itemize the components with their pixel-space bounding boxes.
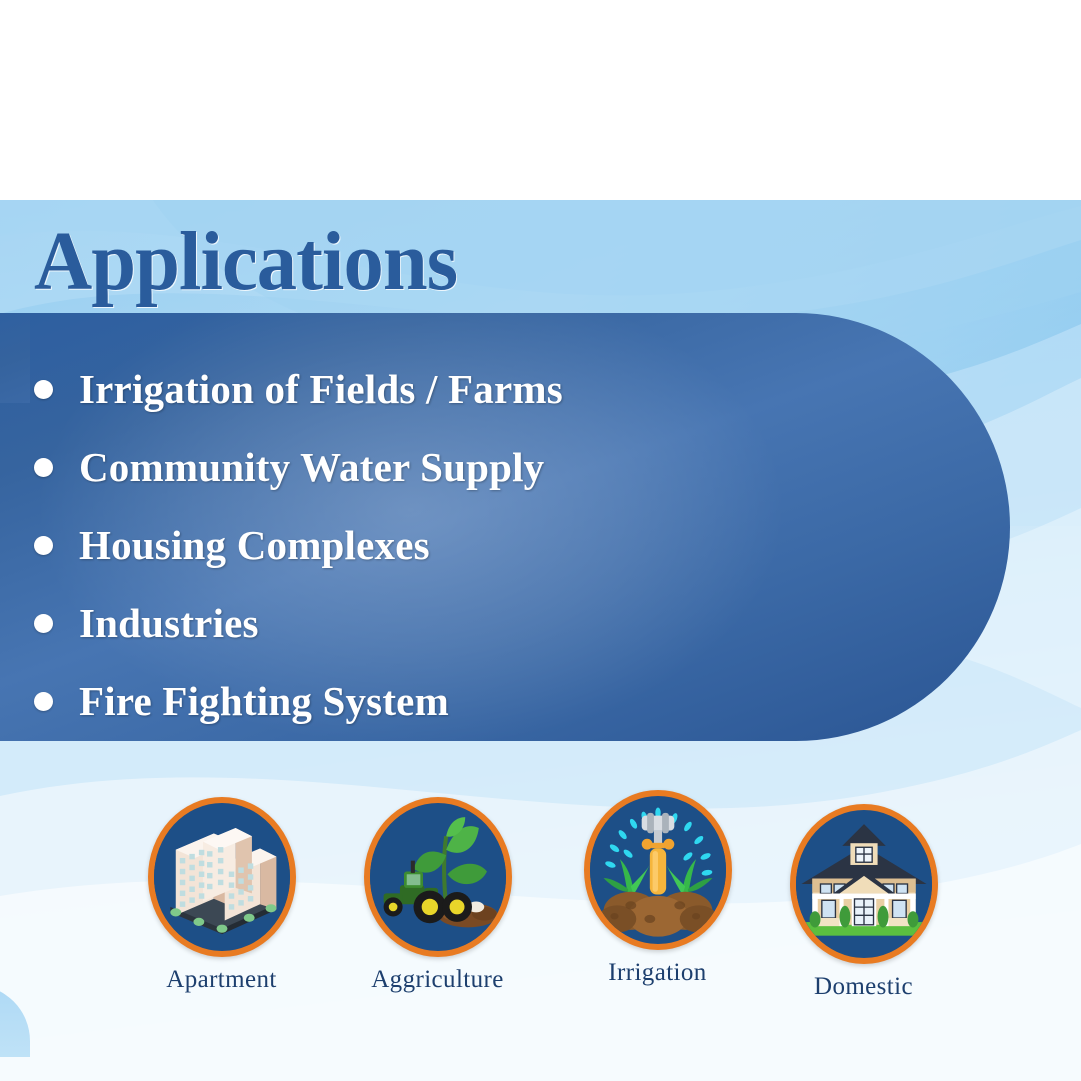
house-icon <box>796 810 932 958</box>
list-item-label: Housing Complexes <box>79 522 430 568</box>
bullet-dot-icon <box>34 380 53 399</box>
bullet-dot-icon <box>34 692 53 711</box>
application-label: Apartment <box>134 966 309 994</box>
apartment-buildings-icon <box>154 803 290 951</box>
bullet-dot-icon <box>34 614 53 633</box>
list-item: Industries <box>34 584 894 662</box>
list-item: Housing Complexes <box>34 506 894 584</box>
bullet-dot-icon <box>34 458 53 477</box>
application-item-irrigation: Irrigation <box>570 790 745 987</box>
application-label: Irrigation <box>570 959 745 987</box>
irrigation-circle <box>584 790 732 950</box>
application-item-domestic: Domestic <box>776 804 951 1001</box>
application-label: Domestic <box>776 973 951 1001</box>
list-item: Fire Fighting System <box>34 662 894 740</box>
list-item: Community Water Supply <box>34 428 894 506</box>
apartment-circle <box>148 797 296 957</box>
panel-corner-top-left <box>0 313 30 403</box>
application-icons-row: Apartment <box>0 790 1081 1050</box>
list-item-label: Fire Fighting System <box>79 678 449 724</box>
page-title: Applications <box>34 216 457 308</box>
bullet-dot-icon <box>34 536 53 555</box>
applications-poster: SINCE : 1991 Shree RAM ®© PUMP - PIPE Lu… <box>0 0 1081 1081</box>
sprinkler-icon <box>590 796 726 944</box>
application-item-agriculture: Aggriculture <box>350 797 525 994</box>
list-item-label: Community Water Supply <box>79 444 544 490</box>
agriculture-circle <box>364 797 512 957</box>
applications-list: Irrigation of Fields / Farms Community W… <box>34 350 894 740</box>
application-label: Aggriculture <box>350 966 525 994</box>
tractor-plant-icon <box>370 803 506 951</box>
list-item-label: Industries <box>79 600 259 646</box>
header-band <box>0 0 1081 200</box>
application-item-apartment: Apartment <box>134 797 309 994</box>
list-item-label: Irrigation of Fields / Farms <box>79 366 563 412</box>
domestic-circle <box>790 804 938 964</box>
list-item: Irrigation of Fields / Farms <box>34 350 894 428</box>
